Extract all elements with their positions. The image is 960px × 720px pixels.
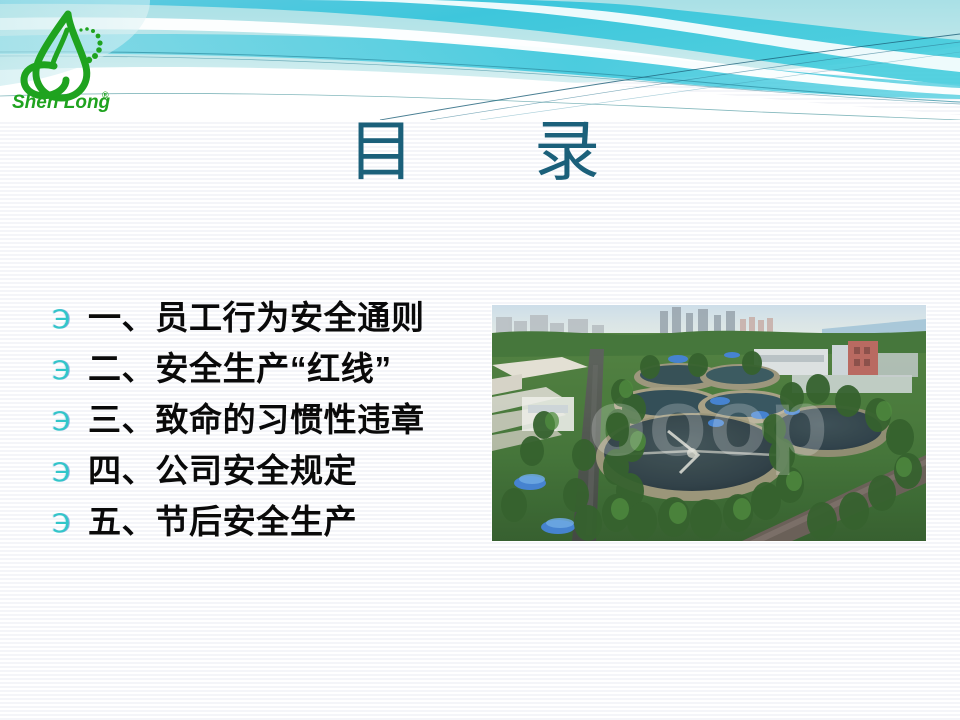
toc-item-label: 二、安全生产“红线”: [88, 350, 392, 388]
toc-item-label: 一、员工行为安全通则: [88, 299, 425, 337]
ornament-bullet-icon: ℈: [52, 303, 88, 329]
water-drop-icon: [24, 14, 87, 98]
table-of-contents-list: ℈ 一、员工行为安全通则 ℈ 二、安全生产“红线” ℈ 三、致命的习惯性违章 ℈…: [52, 292, 482, 547]
page-title: 目 录: [0, 112, 960, 190]
ornament-bullet-icon: ℈: [52, 405, 88, 431]
ornament-bullet-icon: ℈: [52, 456, 88, 482]
list-item[interactable]: ℈ 一、员工行为安全通则: [52, 292, 482, 343]
registered-mark: ®: [102, 90, 109, 100]
shenlong-logo: Shen Long ®: [10, 8, 120, 116]
list-item[interactable]: ℈ 四、公司安全规定: [52, 445, 482, 496]
logo-wordmark: Shen Long: [12, 92, 111, 113]
ornament-bullet-icon: ℈: [52, 354, 88, 380]
wastewater-plant-photo: ooop: [492, 305, 926, 541]
list-item[interactable]: ℈ 五、节后安全生产: [52, 496, 482, 547]
presentation-slide: Shen Long ® 目 录 ℈ 一、员工行为安全通则 ℈ 二、安全生产“红线…: [0, 0, 960, 720]
ornament-bullet-icon: ℈: [52, 507, 88, 533]
list-item[interactable]: ℈ 三、致命的习惯性违章: [52, 394, 482, 445]
toc-item-label: 四、公司安全规定: [88, 452, 357, 490]
list-item[interactable]: ℈ 二、安全生产“红线”: [52, 343, 482, 394]
toc-item-label: 三、致命的习惯性违章: [88, 401, 425, 439]
toc-item-label: 五、节后安全生产: [88, 503, 357, 541]
header-banner-decoration: [0, 0, 960, 120]
